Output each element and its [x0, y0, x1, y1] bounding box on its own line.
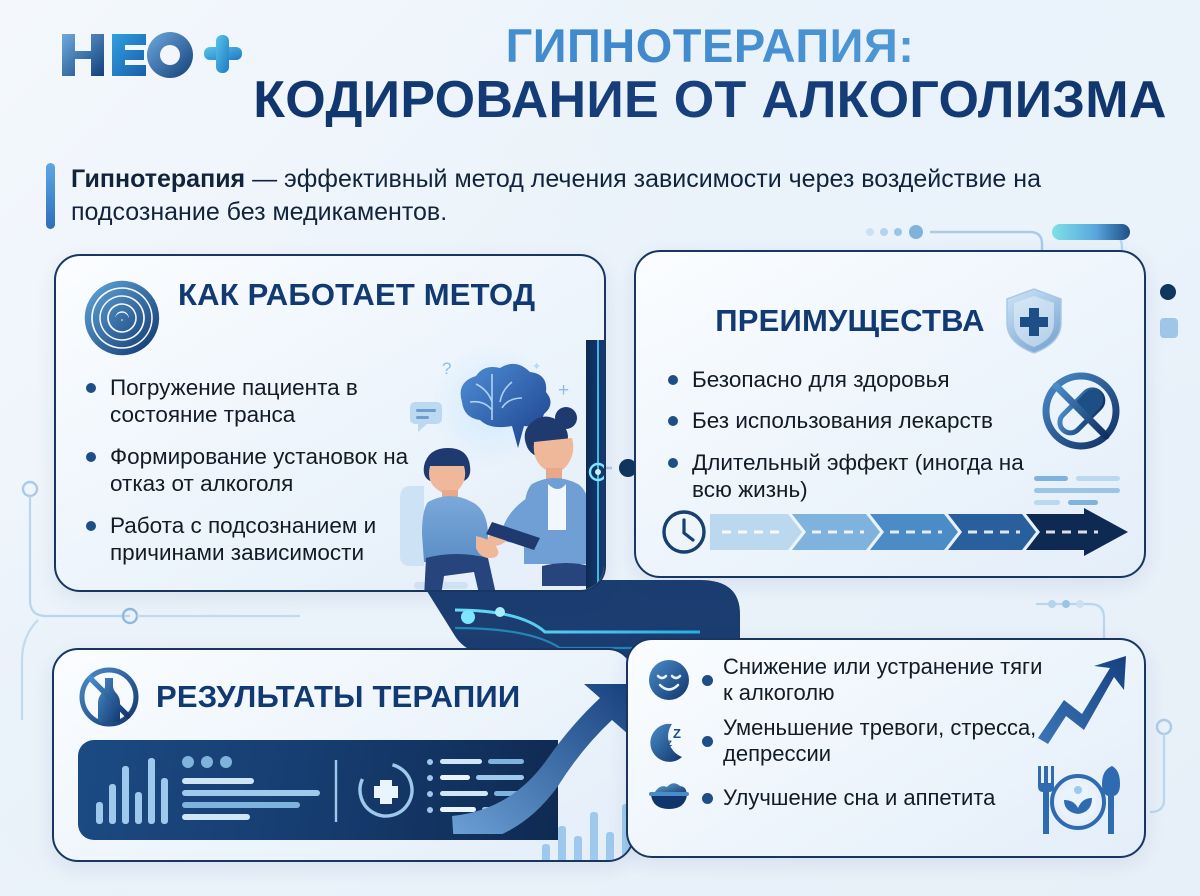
svg-text:+: +: [558, 380, 569, 401]
svg-text:z: z: [667, 738, 672, 749]
list-item: Погружение пациента в состояние транса: [84, 374, 414, 429]
bullet-dot: [702, 793, 713, 804]
outcome-text: Уменьшение тревоги, стресса, депрессии: [723, 715, 1046, 768]
no-pill-icon: [1040, 370, 1122, 452]
lead-accent-bar: [46, 163, 55, 229]
bar-chart-icon: [96, 758, 168, 824]
method-bullet-list: Погружение пациента в состояние транса Ф…: [84, 374, 414, 581]
title-line-2: КОДИРОВАНИЕ ОТ АЛКОГОЛИЗМА: [250, 73, 1170, 127]
card-therapy-results: РЕЗУЛЬТАТЫ ТЕРАПИИ: [52, 648, 634, 862]
therapy-session-illustration: ? + ✦: [380, 340, 606, 590]
lead-paragraph: Гипнотерапия — эффективный метод лечения…: [46, 163, 1126, 229]
timeline-progress-arrow: [660, 508, 1132, 556]
list-item: Снижение или устранение тяги к алкоголю: [646, 654, 1046, 707]
no-alcohol-bottle-icon: [78, 666, 140, 728]
lead-text: Гипнотерапия — эффективный метод лечения…: [71, 163, 1126, 229]
decorative-text-lines: [1034, 474, 1120, 508]
bullet-dot: [702, 736, 713, 747]
trending-up-arrow-icon: [1034, 652, 1130, 748]
card-how-method-works: КАК РАБОТАЕТ МЕТОД Погружение пациента в…: [54, 254, 606, 592]
mini-bar-chart-icon: [532, 792, 634, 862]
outcome-text: Улучшение сна и аппетита: [723, 785, 995, 811]
salad-bowl-icon: [646, 776, 692, 822]
list-item: Без использования лекарств: [666, 407, 1056, 434]
svg-text:?: ?: [442, 359, 451, 378]
shield-cross-icon: [1003, 286, 1065, 356]
card-benefits: ПРЕИМУЩЕСТВА Безопасно для здоровья Без …: [634, 250, 1146, 578]
svg-text:Z: Z: [673, 726, 681, 741]
moon-sleep-icon: Z z: [646, 718, 692, 764]
list-item: Безопасно для здоровья: [666, 366, 1056, 393]
benefits-bullet-list: Безопасно для здоровья Без использования…: [666, 366, 1056, 518]
title-line-1: ГИПНОТЕРАПИЯ:: [250, 22, 1170, 71]
outcomes-list: Снижение или устранение тяги к алкоголю …: [646, 654, 1046, 830]
bullet-dot: [702, 675, 713, 686]
outcome-text: Снижение или устранение тяги к алкоголю: [723, 654, 1046, 707]
card-title-method: КАК РАБОТАЕТ МЕТОД: [178, 278, 535, 312]
card-header: ПРЕИМУЩЕСТВА: [636, 286, 1144, 356]
page-title: ГИПНОТЕРАПИЯ: КОДИРОВАНИЕ ОТ АЛКОГОЛИЗМА: [250, 22, 1170, 127]
list-item: Формирование установок на отказ от алког…: [84, 443, 414, 498]
card-outcomes: Снижение или устранение тяги к алкоголю …: [626, 638, 1146, 858]
list-item: Улучшение сна и аппетита: [646, 776, 1046, 822]
calm-face-icon: [646, 657, 692, 703]
spiral-hypnosis-icon: [82, 278, 162, 358]
brand-logo-neo-plus: [58, 28, 248, 90]
list-item: Длительный эффект (иногда на всю жизнь): [666, 449, 1056, 504]
list-item: Z z Уменьшение тревоги, стресса, депресс…: [646, 715, 1046, 768]
list-item: Работа с подсознанием и причинами зависи…: [84, 512, 414, 567]
plus-gauge-icon: [350, 754, 421, 825]
lead-bold: Гипнотерапия: [71, 165, 245, 193]
card-title-benefits: ПРЕИМУЩЕСТВА: [715, 304, 984, 338]
svg-text:✦: ✦: [532, 361, 541, 373]
infographic-stage: ГИПНОТЕРАПИЯ: КОДИРОВАНИЕ ОТ АЛКОГОЛИЗМА…: [0, 0, 1200, 896]
healthy-meal-icon: [1030, 760, 1126, 840]
